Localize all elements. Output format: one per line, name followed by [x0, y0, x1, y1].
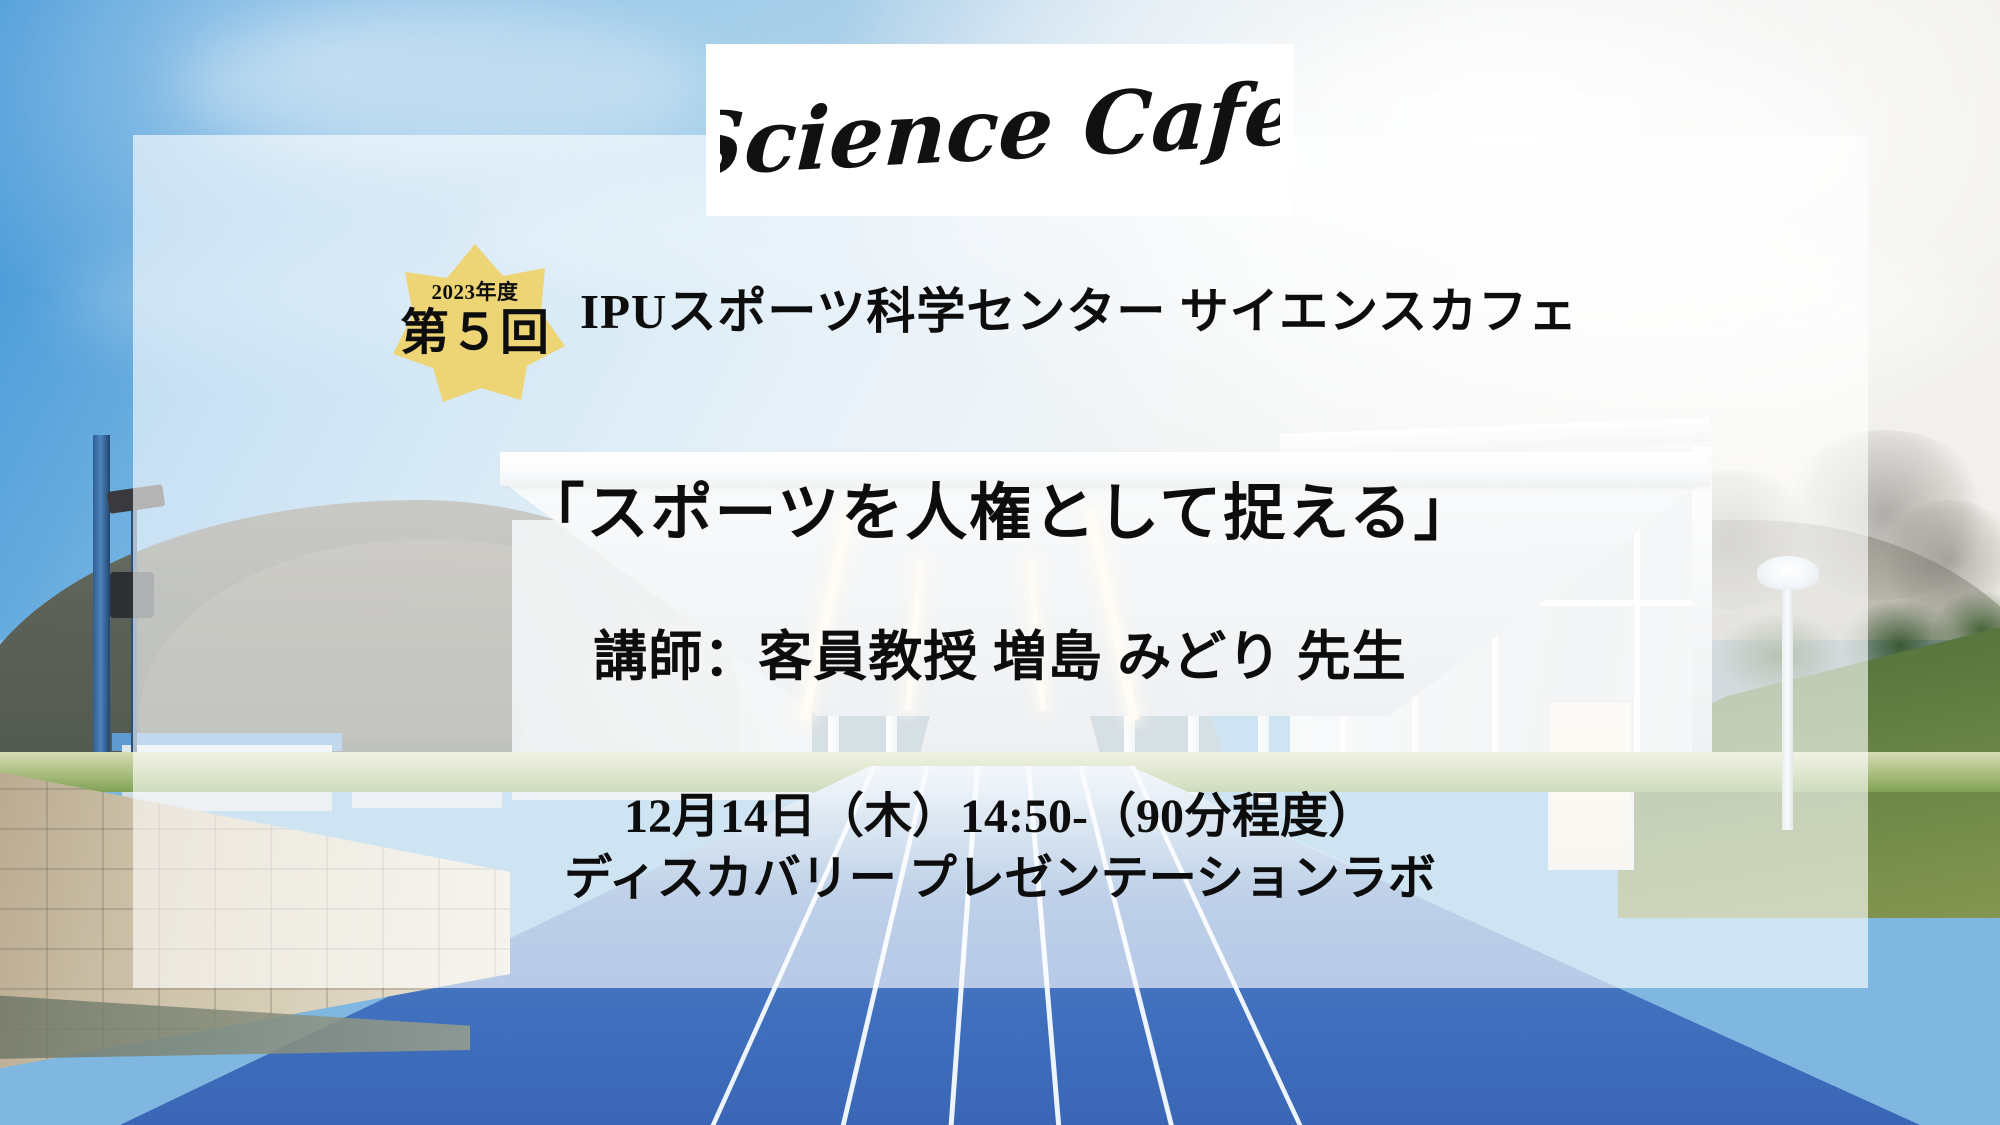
logo-text: Science Cafe	[720, 63, 1280, 196]
venue-line: ディスカバリー プレゼンテーションラボ	[0, 838, 2000, 908]
science-cafe-logo: Science Cafe	[706, 44, 1294, 216]
badge-edition-label: 第５回	[400, 308, 550, 357]
event-title: IPUスポーツ科学センター サイエンスカフェ	[580, 272, 1578, 343]
science-cafe-wordmark: Science Cafe	[720, 55, 1280, 205]
badge-year-label: 2023年度	[432, 282, 519, 303]
speaker-line: 講師：客員教授 増島 みどり 先生	[0, 612, 2000, 691]
edition-star-badge: 2023年度 第５回	[385, 242, 565, 402]
datetime-line: 12月14日（木）14:50-（90分程度）	[0, 776, 2000, 846]
poster-canvas: Science Cafe 2023年度 第５回 IPUスポーツ科学センター サイ…	[0, 0, 2000, 1125]
badge-text-group: 2023年度 第５回	[385, 242, 565, 402]
lecture-title: 「スポーツを人権として捉える」	[0, 462, 2000, 552]
